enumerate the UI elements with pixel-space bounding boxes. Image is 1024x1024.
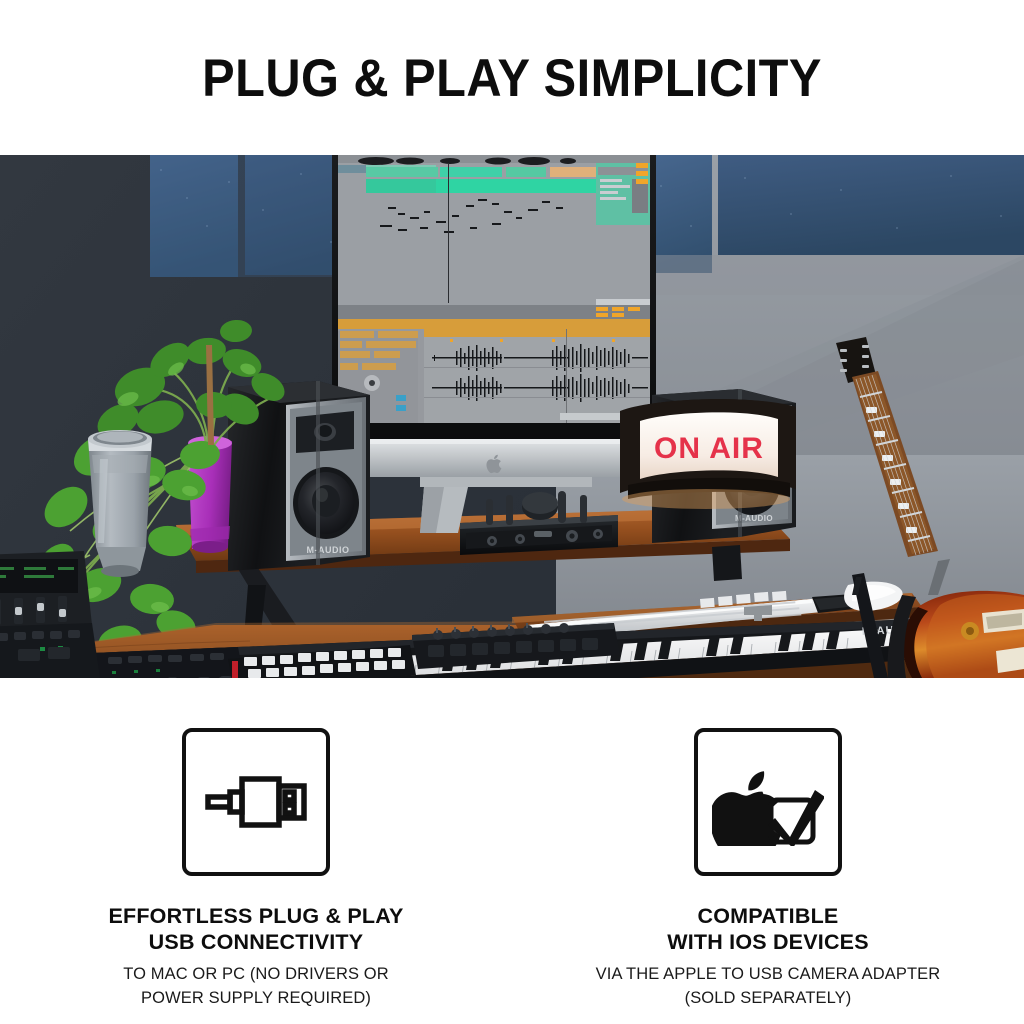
feature-title: COMPATIBLE WITH IOS DEVICES — [667, 903, 869, 955]
feature-sub-line2: (SOLD SEPARATELY) — [596, 987, 941, 1010]
feature-sub-line2: POWER SUPPLY REQUIRED) — [123, 987, 389, 1010]
studio-photo-illustration: M-AUDIO — [0, 155, 1024, 678]
feature-title: EFFORTLESS PLUG & PLAY USB CONNECTIVITY — [108, 903, 403, 955]
apple-checkmark-icon — [712, 758, 824, 846]
page-title: PLUG & PLAY SIMPLICITY — [41, 52, 983, 105]
apple-icon-box — [694, 728, 842, 876]
feature-usb-connectivity: EFFORTLESS PLUG & PLAY USB CONNECTIVITY … — [0, 700, 512, 1024]
svg-text:ON AIR: ON AIR — [654, 432, 764, 465]
usb-plug-icon — [204, 766, 308, 838]
feature-title-line1: EFFORTLESS PLUG & PLAY — [108, 903, 403, 929]
feature-subtitle: VIA THE APPLE TO USB CAMERA ADAPTER (SOL… — [596, 963, 941, 1010]
marketing-page: PLUG & PLAY SIMPLICITY — [0, 0, 1024, 1024]
feature-ios-compatible: COMPATIBLE WITH IOS DEVICES VIA THE APPL… — [512, 700, 1024, 1024]
feature-sub-line1: VIA THE APPLE TO USB CAMERA ADAPTER — [596, 963, 941, 986]
usb-icon-box — [182, 728, 330, 876]
feature-title-line1: COMPATIBLE — [667, 903, 869, 929]
feature-title-line2: USB CONNECTIVITY — [108, 929, 403, 955]
feature-subtitle: TO MAC OR PC (NO DRIVERS OR POWER SUPPLY… — [123, 963, 389, 1010]
svg-text:M-AUDIO: M-AUDIO — [307, 545, 350, 555]
feature-title-line2: WITH IOS DEVICES — [667, 929, 869, 955]
feature-sub-line1: TO MAC OR PC (NO DRIVERS OR — [123, 963, 389, 986]
studio-photo: M-AUDIO — [0, 155, 1024, 678]
feature-row: EFFORTLESS PLUG & PLAY USB CONNECTIVITY … — [0, 700, 1024, 1024]
